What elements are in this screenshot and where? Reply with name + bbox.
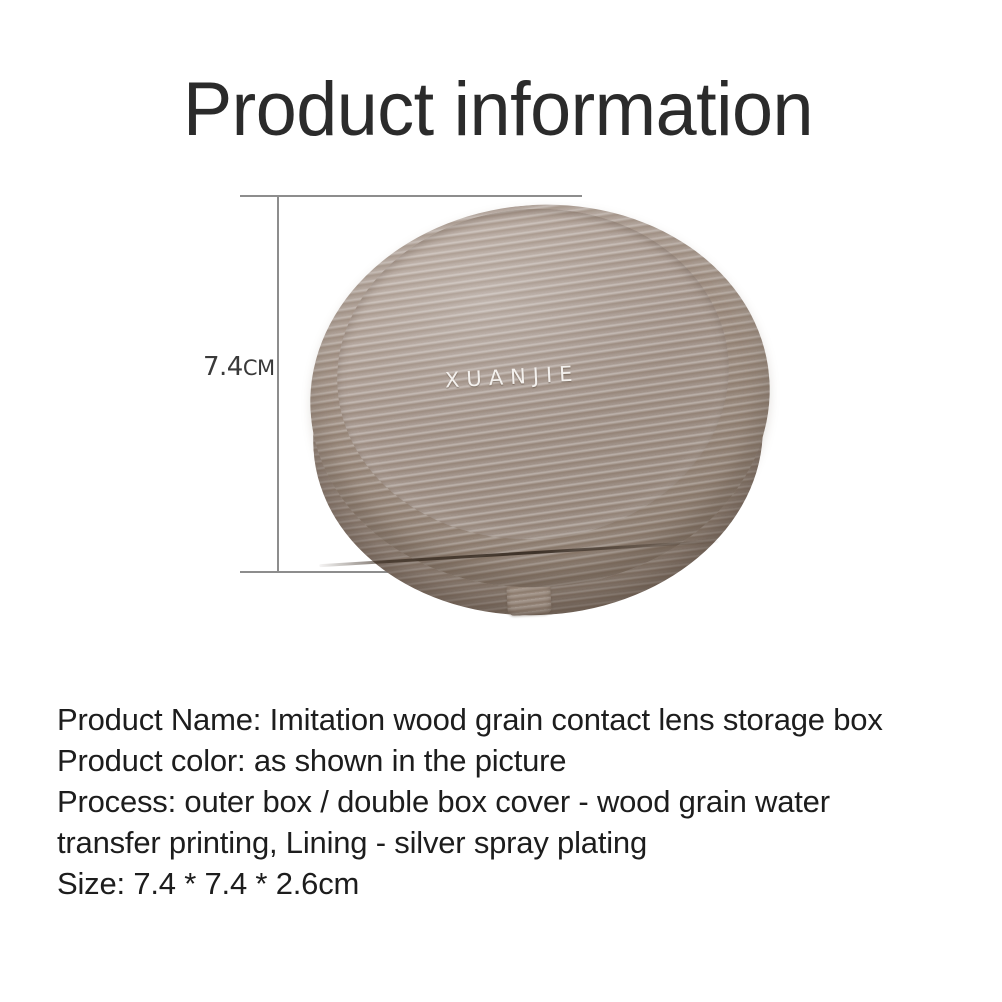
product-photo-wooden-lens-case: XUANJIE	[295, 195, 780, 635]
description-line: Product color: as shown in the picture	[57, 740, 977, 781]
description-line: Process: outer box / double box cover - …	[57, 781, 977, 822]
dimension-value: 7.4	[203, 352, 243, 382]
description-line: transfer printing, Lining - silver spray…	[57, 822, 977, 863]
description-line: Size: 7.4 * 7.4 * 2.6cm	[57, 863, 977, 904]
product-description: Product Name: Imitation wood grain conta…	[57, 699, 977, 904]
dimension-measure-line	[277, 195, 279, 573]
dimension-label: 7.4CM	[203, 351, 277, 384]
page-title: Product information	[183, 72, 813, 148]
description-line: Product Name: Imitation wood grain conta…	[57, 699, 977, 740]
dimension-unit: CM	[243, 356, 275, 380]
product-information-page: Product information 7.4CM XUANJIE Produc…	[0, 0, 1002, 1002]
